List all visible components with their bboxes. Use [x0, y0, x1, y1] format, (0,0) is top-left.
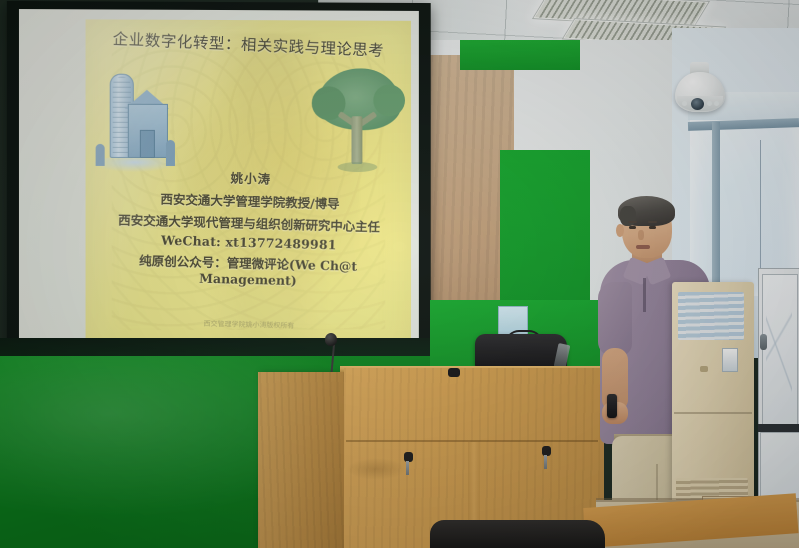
artwork-figure [166, 140, 175, 166]
podium-side-panel [258, 372, 346, 548]
nose [638, 230, 644, 240]
podium-lock-left[interactable] [404, 452, 413, 462]
mouth [636, 245, 650, 249]
small-dark-object [448, 368, 460, 377]
lecture-hall-photo: 企业数字化转型：相关实践与理论思考 [0, 0, 799, 548]
presentation-slide: 企业数字化转型：相关实践与理论思考 [86, 19, 411, 357]
sleeve-left [598, 282, 632, 356]
cabinet-divider [758, 424, 799, 432]
key-icon [406, 461, 409, 475]
barn-door [140, 130, 155, 158]
slide-body-text: 姚小涛 西安交通大学管理学院教授/博导 西安交通大学现代管理与组织创新研究中心主… [91, 164, 407, 291]
green-wall-strip-top [460, 40, 580, 70]
eye-right [649, 226, 656, 229]
shirt-placket [643, 278, 646, 312]
slide-artwork-left-silo-barn [92, 68, 178, 172]
slide-artwork-right-tree [312, 64, 407, 174]
podium-lock-right[interactable] [542, 446, 551, 456]
eye-left [629, 226, 636, 229]
projection-screen-frame: 企业数字化转型：相关实践与理论思考 [7, 1, 431, 371]
cabinet-reflection [766, 290, 792, 410]
projection-screen-surface: 企业数字化转型：相关实践与理论思考 [19, 9, 419, 361]
podium-shadow [346, 458, 406, 480]
security-camera-icon [672, 62, 728, 124]
air-conditioner-vent [678, 292, 744, 340]
camera-ir-led [714, 101, 719, 106]
black-bag [475, 334, 567, 368]
camera-lens-icon [691, 98, 704, 110]
microphone-icon[interactable] [325, 333, 337, 346]
air-conditioner-knob[interactable] [700, 366, 708, 372]
camera-ir-led [682, 101, 687, 106]
air-conditioner-label [722, 348, 738, 372]
cabinet-handle[interactable] [760, 334, 767, 350]
ear [616, 224, 624, 237]
camera-ir-led [707, 101, 712, 106]
eyebrow-right [648, 221, 657, 223]
key-icon [544, 455, 547, 469]
air-conditioner-seam [674, 412, 752, 414]
foreground-dark-bag [430, 520, 605, 548]
hair [618, 196, 675, 226]
tree-trunk [351, 116, 362, 164]
artwork-figure [96, 144, 105, 166]
eyebrow-left [628, 221, 637, 223]
presentation-remote-icon[interactable] [607, 394, 617, 418]
